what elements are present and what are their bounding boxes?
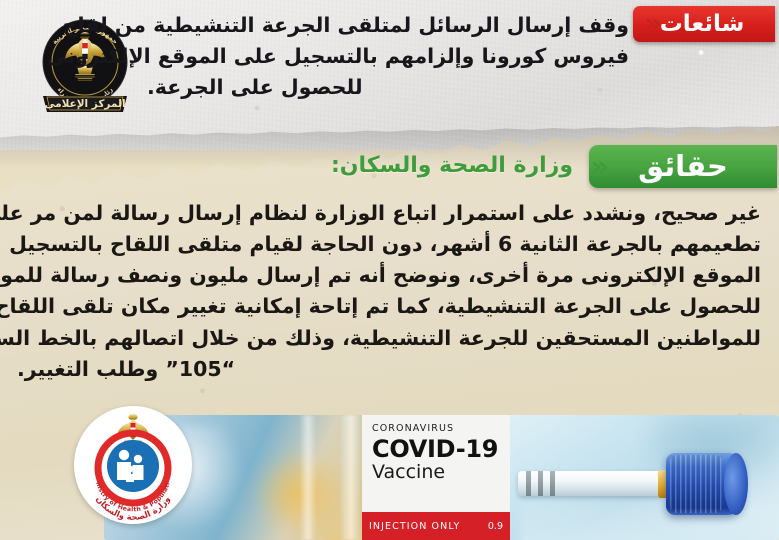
rumor-text-block: وقف إرسال الرسائل لمتلقى الجرعة التنشيطي… [147,10,629,102]
facts-badge: حقائق [589,145,777,188]
body-line-3: الموقع الإلكترونى مرة أخرى، ونوضح أنه تم… [17,260,761,291]
vaccine-label-volume: 0.9 [488,521,503,532]
syringe-ring-1 [526,471,531,496]
vaccine-label-red-strip: INJECTION ONLY 0.9 [362,512,510,540]
photo-strip: CORONAVIRUS COVID-19 Vaccine INJECTION O… [104,415,779,540]
chevron-left-icon-facts: « [590,152,604,181]
lab-tube-right [340,415,362,540]
body-line-5: للمواطنين المستحقين للجرعة التنشيطية، وذ… [17,323,761,354]
syringe-cap-face [724,453,748,515]
syringe-ring-2 [538,471,543,496]
chevron-left-icon-rumor: « [645,10,657,37]
cabinet-logo-ribbon-text: المركز الإعلامى [44,98,125,110]
syringe-cap-ribs [670,455,722,513]
rumor-line-3: للحصول على الجرعة. [147,72,629,103]
syringe-photo [510,415,779,540]
vaccine-label-injection-only: INJECTION ONLY [369,521,460,532]
body-line-4: للحصول على الجرعة التنشيطية، كما تم إتاح… [17,291,761,322]
vaccine-label-coronavirus: CORONAVIRUS [372,424,510,434]
vaccine-label-body: CORONAVIRUS COVID-19 Vaccine [362,415,510,512]
rumor-line-1: وقف إرسال الرسائل لمتلقى الجرعة التنشيطي… [147,10,629,41]
syringe-ring-3 [550,471,555,496]
rumor-badge-label: شائعات [660,13,745,36]
ministry-of-health-logo: Ministry of Health & Population وزارة ال… [74,406,192,524]
body-line-1: غير صحيح، ونشدد على استمرار اتباع الوزار… [17,198,761,229]
body-line-2: تطعيمهم بالجرعة الثانية 6 أشهر، دون الحا… [17,229,761,260]
lab-blur-amber [254,449,344,539]
facts-body-text: غير صحيح، ونشدد على استمرار اتباع الوزار… [17,198,761,385]
covid-vaccine-label: CORONAVIRUS COVID-19 Vaccine INJECTION O… [362,415,510,540]
facts-badge-label: حقائق [638,152,728,181]
body-line-6: “105” وطلب التغيير. [17,354,761,385]
infographic-poster: جمهورية مصر العربية رئاسة مجلس الوزراء ا… [0,0,779,540]
rumor-line-2: فيروس كورونا وإلزامهم بالتسجيل على الموق… [147,41,629,72]
lab-tube-left [300,415,316,540]
vaccine-label-covid: COVID-19 [372,437,510,461]
facts-subtitle: وزارة الصحة والسكان: [331,155,573,177]
vaccine-label-vaccine: Vaccine [372,462,510,483]
